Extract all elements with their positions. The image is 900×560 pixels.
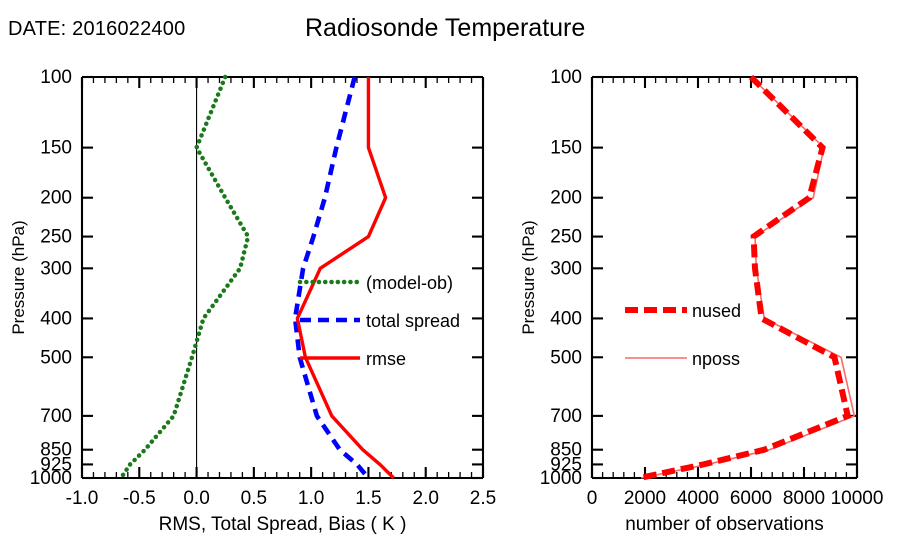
left-panel-ytick-label: 200 (40, 188, 72, 209)
right-panel-series-nposs (641, 77, 854, 478)
left-panel-ytick-label: 250 (40, 227, 72, 248)
right-panel-xtick-label: 4000 (677, 488, 719, 509)
chart-page: DATE: 2016022400 Radiosonde Temperature … (0, 0, 900, 560)
right-panel-ytick-label: 300 (550, 258, 582, 279)
left-panel-xtick-label: 1.0 (298, 488, 324, 509)
left-panel-xtick-label: -0.5 (123, 488, 156, 509)
right-panel-ytick-label: 200 (550, 188, 582, 209)
left-panel-ytick-label: 1000 (30, 468, 72, 489)
left-panel-ytick-label: 300 (40, 258, 72, 279)
left-panel-series-modelob (121, 77, 248, 478)
left-panel-xtick-label: -1.0 (66, 488, 99, 509)
right-panel-ytick-label: 500 (550, 347, 582, 368)
right-panel-ytick-label: 400 (550, 308, 582, 329)
left-panel-xtick-label: 2.0 (413, 488, 439, 509)
left-panel-xtick-label: 2.5 (470, 488, 496, 509)
right-panel-ytick-label: 100 (550, 67, 582, 88)
right-panel-xtick-label: 6000 (730, 488, 772, 509)
legend-label-nused: nused (692, 301, 741, 321)
right-panel-yaxis-title: Pressure (hPa) (519, 220, 538, 334)
left-panel-xaxis-title: RMS, Total Spread, Bias ( K ) (159, 514, 407, 535)
right-panel-ytick-label: 700 (550, 406, 582, 427)
right-panel-xtick-label: 0 (587, 488, 598, 509)
legend-label-spread: total spread (366, 311, 460, 331)
right-panel-ytick-label: 150 (550, 138, 582, 159)
right-panel-xtick-label: 8000 (783, 488, 825, 509)
left-panel-ytick-label: 500 (40, 347, 72, 368)
right-panel-xaxis-title: number of observations (625, 514, 824, 535)
left-panel-ytick-label: 150 (40, 138, 72, 159)
right-panel-ytick-label: 1000 (540, 468, 582, 489)
legend-label-rmse: rmse (366, 349, 406, 369)
left-panel-ytick-label: 400 (40, 308, 72, 329)
right-panel-ytick-label: 250 (550, 227, 582, 248)
left-panel-ytick-label: 700 (40, 406, 72, 427)
date-label: DATE: 2016022400 (8, 18, 185, 41)
legend-label-bias: (model-ob) (366, 273, 453, 293)
right-panel-xtick-label: 2000 (624, 488, 666, 509)
legend-label-nposs: nposs (692, 349, 740, 369)
left-panel-ytick-label: 100 (40, 67, 72, 88)
page-title: Radiosonde Temperature (305, 14, 585, 43)
left-panel-yaxis-title: Pressure (hPa) (9, 220, 28, 334)
radiosonde-plot: -1.0-0.50.00.51.01.52.02.510015020025030… (0, 0, 900, 560)
right-panel-series-nused (640, 77, 848, 478)
right-panel-xtick-label: 10000 (831, 488, 884, 509)
left-panel-xtick-label: 0.0 (183, 488, 209, 509)
left-panel-xtick-label: 0.5 (241, 488, 267, 509)
left-panel-xtick-label: 1.5 (355, 488, 381, 509)
